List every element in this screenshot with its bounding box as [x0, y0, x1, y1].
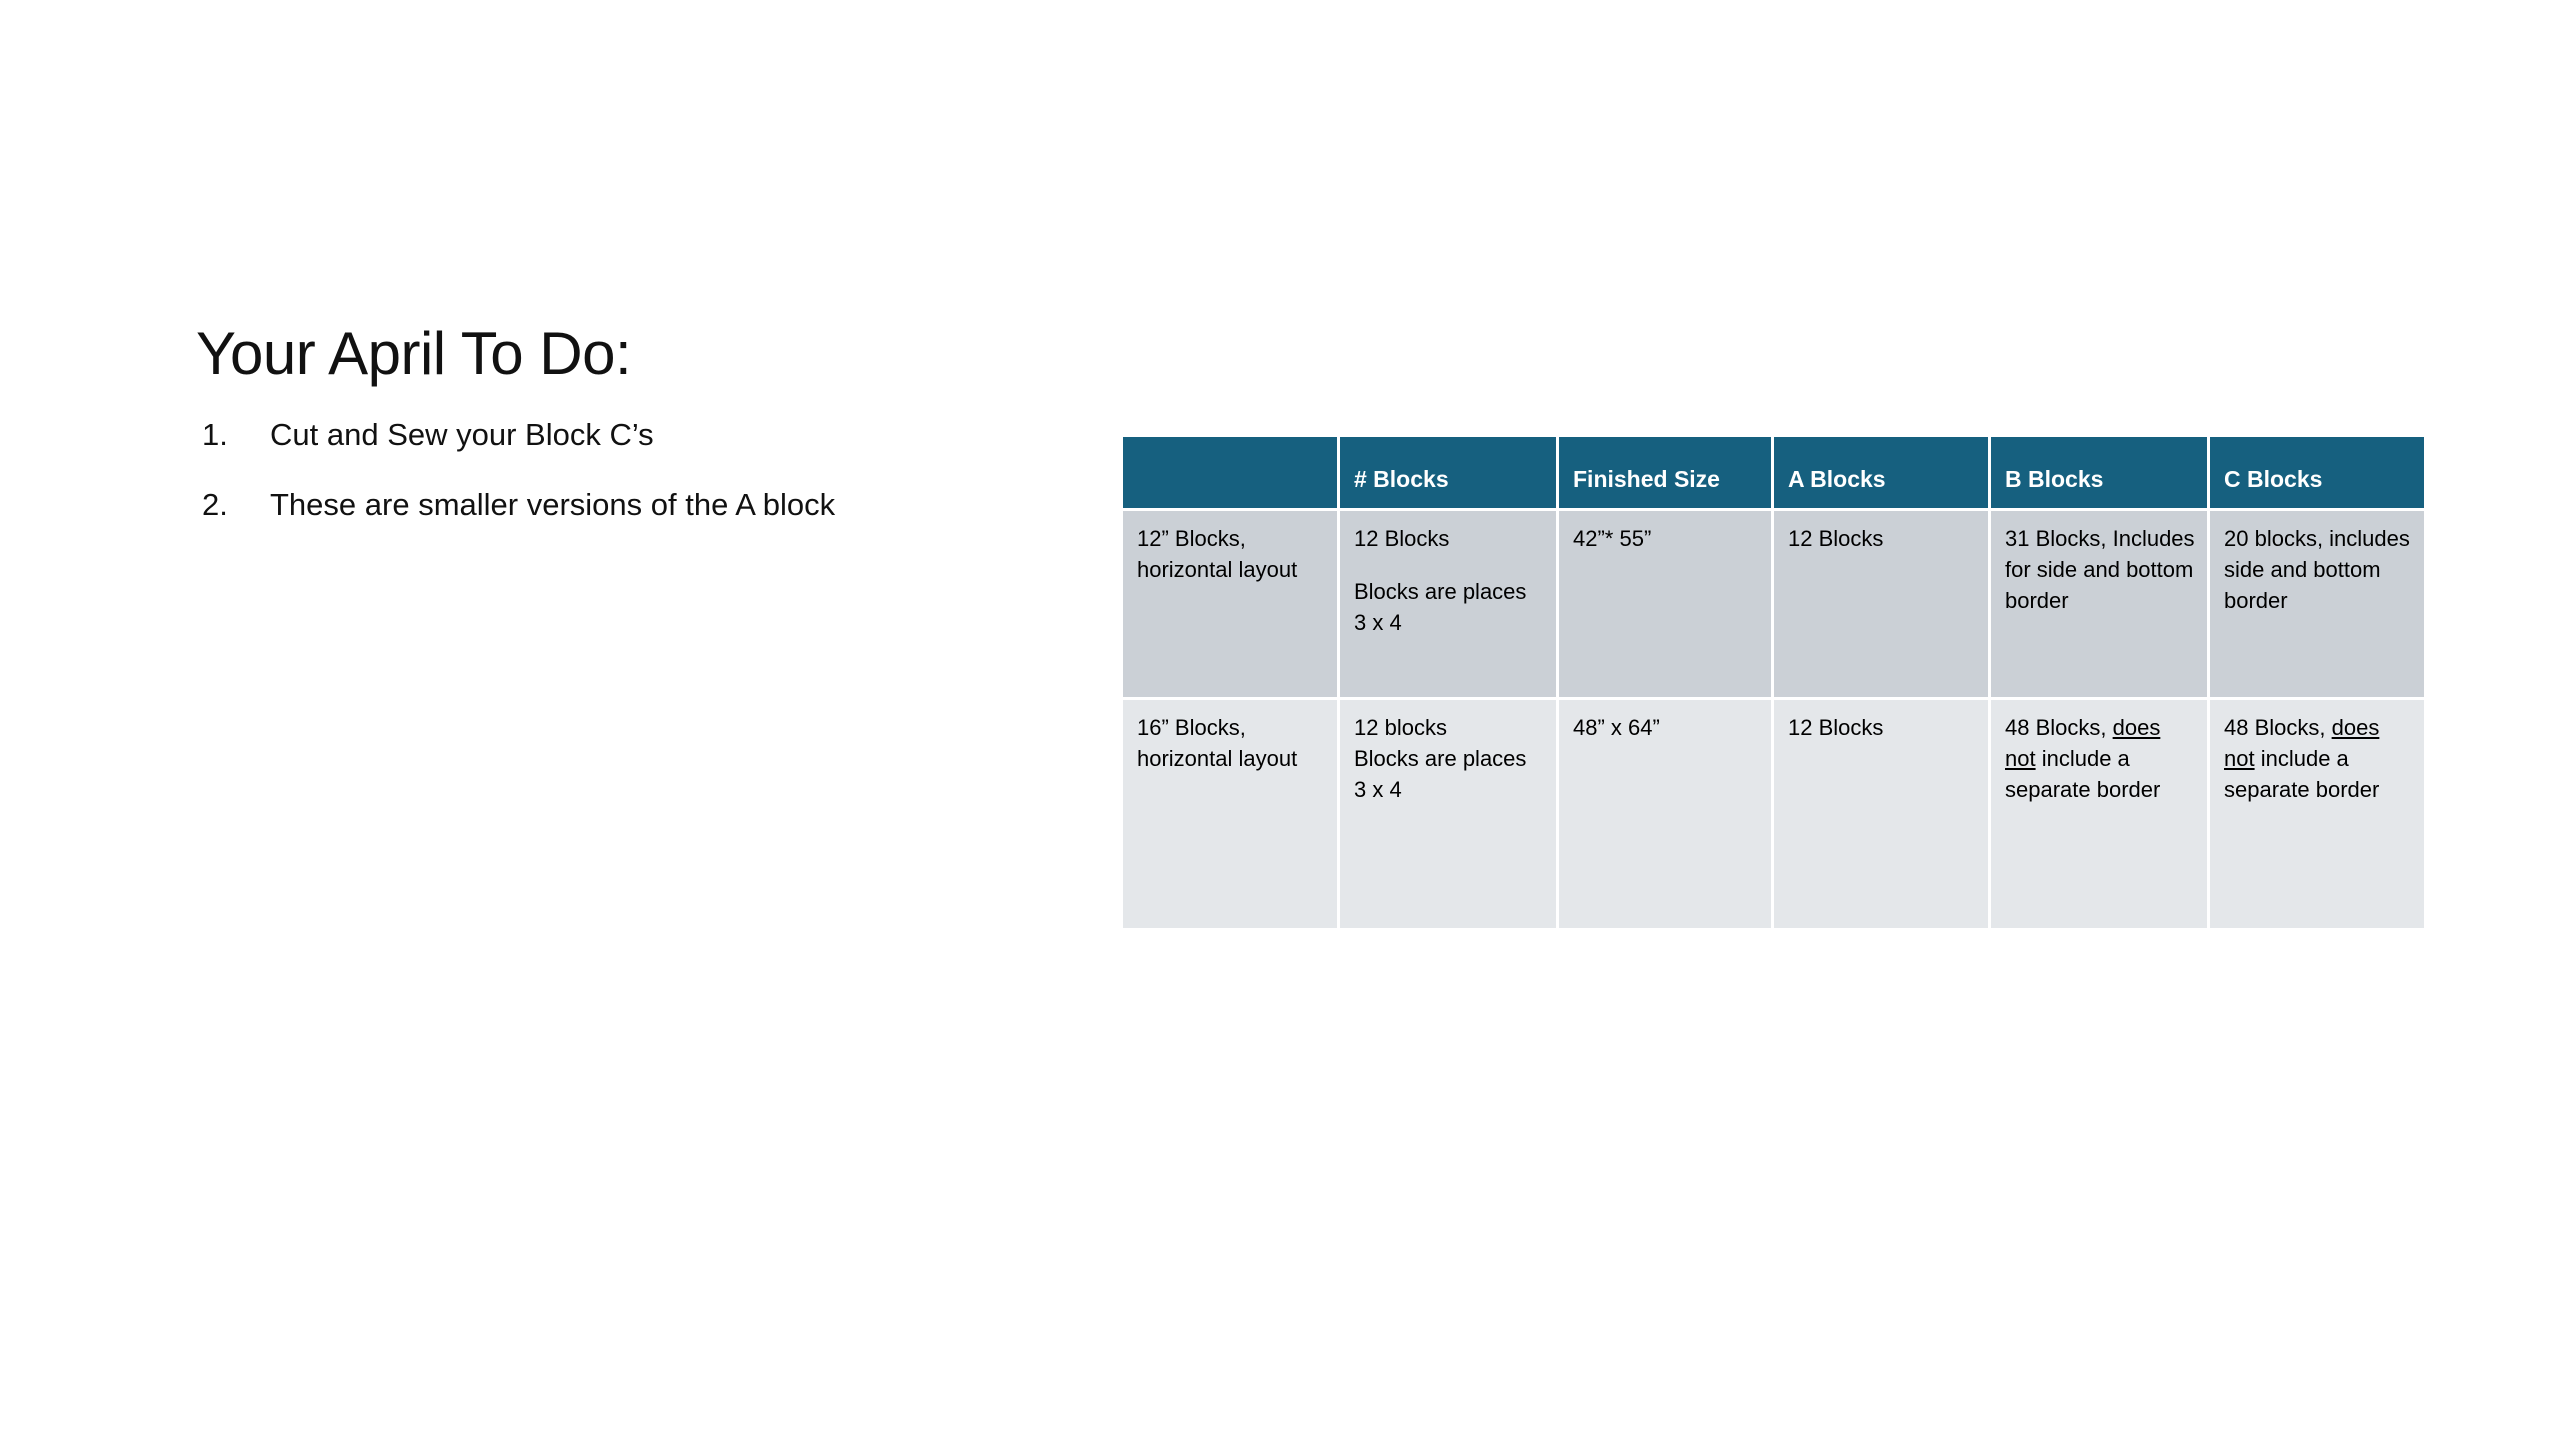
list-item: 2. These are smaller versions of the A b…: [196, 483, 986, 527]
cell-num-blocks: 12 Blocks Blocks are places 3 x 4: [1340, 511, 1556, 697]
cell-b-blocks-prefix: 48 Blocks,: [2005, 715, 2107, 740]
slide-canvas: Your April To Do: 1. Cut and Sew your Bl…: [0, 0, 2560, 1440]
block-table-container: # Blocks Finished Size A Blocks B Blocks…: [1120, 434, 2416, 931]
cell-num-blocks-line2: Blocks are places 3 x 4: [1354, 743, 1544, 805]
todo-list: 1. Cut and Sew your Block C’s 2. These a…: [196, 413, 986, 527]
list-item: 1. Cut and Sew your Block C’s: [196, 413, 986, 457]
cell-c-blocks: 48 Blocks, does not include a separate b…: [2210, 700, 2424, 928]
cell-num-blocks-line1: 12 blocks: [1354, 712, 1544, 743]
table-row: 16” Blocks, horizontal layout 12 blocks …: [1123, 700, 2424, 928]
cell-a-blocks: 12 Blocks: [1774, 700, 1988, 928]
cell-num-blocks: 12 blocks Blocks are places 3 x 4: [1340, 700, 1556, 928]
table-body: 12” Blocks, horizontal layout 12 Blocks …: [1123, 511, 2424, 928]
cell-num-blocks-line2: Blocks are places 3 x 4: [1354, 576, 1544, 638]
list-item-number: 1.: [196, 413, 270, 457]
cell-layout: 12” Blocks, horizontal layout: [1123, 511, 1337, 697]
cell-layout: 16” Blocks, horizontal layout: [1123, 700, 1337, 928]
block-table: # Blocks Finished Size A Blocks B Blocks…: [1120, 434, 2427, 931]
cell-finished-size: 48” x 64”: [1559, 700, 1771, 928]
table-header-cell-c-blocks: C Blocks: [2210, 437, 2424, 508]
table-header-cell-num-blocks: # Blocks: [1340, 437, 1556, 508]
cell-b-blocks: 31 Blocks, Includes for side and bottom …: [1991, 511, 2207, 697]
table-header-cell-finished-size: Finished Size: [1559, 437, 1771, 508]
cell-b-blocks: 48 Blocks, does not include a separate b…: [1991, 700, 2207, 928]
cell-finished-size: 42”* 55”: [1559, 511, 1771, 697]
table-header-row: # Blocks Finished Size A Blocks B Blocks…: [1123, 437, 2424, 508]
table-header-cell-b-blocks: B Blocks: [1991, 437, 2207, 508]
table-header-cell-layout: [1123, 437, 1337, 508]
table-row: 12” Blocks, horizontal layout 12 Blocks …: [1123, 511, 2424, 697]
cell-spacer: [1354, 554, 1544, 576]
cell-c-blocks-prefix: 48 Blocks,: [2224, 715, 2326, 740]
cell-c-blocks: 20 blocks, includes side and bottom bord…: [2210, 511, 2424, 697]
list-item-label: These are smaller versions of the A bloc…: [270, 483, 986, 527]
left-content-column: Your April To Do: 1. Cut and Sew your Bl…: [196, 320, 986, 553]
list-item-label: Cut and Sew your Block C’s: [270, 413, 986, 457]
cell-a-blocks: 12 Blocks: [1774, 511, 1988, 697]
list-item-number: 2.: [196, 483, 270, 527]
page-title: Your April To Do:: [196, 320, 986, 387]
table-header-cell-a-blocks: A Blocks: [1774, 437, 1988, 508]
cell-num-blocks-line1: 12 Blocks: [1354, 523, 1544, 554]
table-header: # Blocks Finished Size A Blocks B Blocks…: [1123, 437, 2424, 508]
